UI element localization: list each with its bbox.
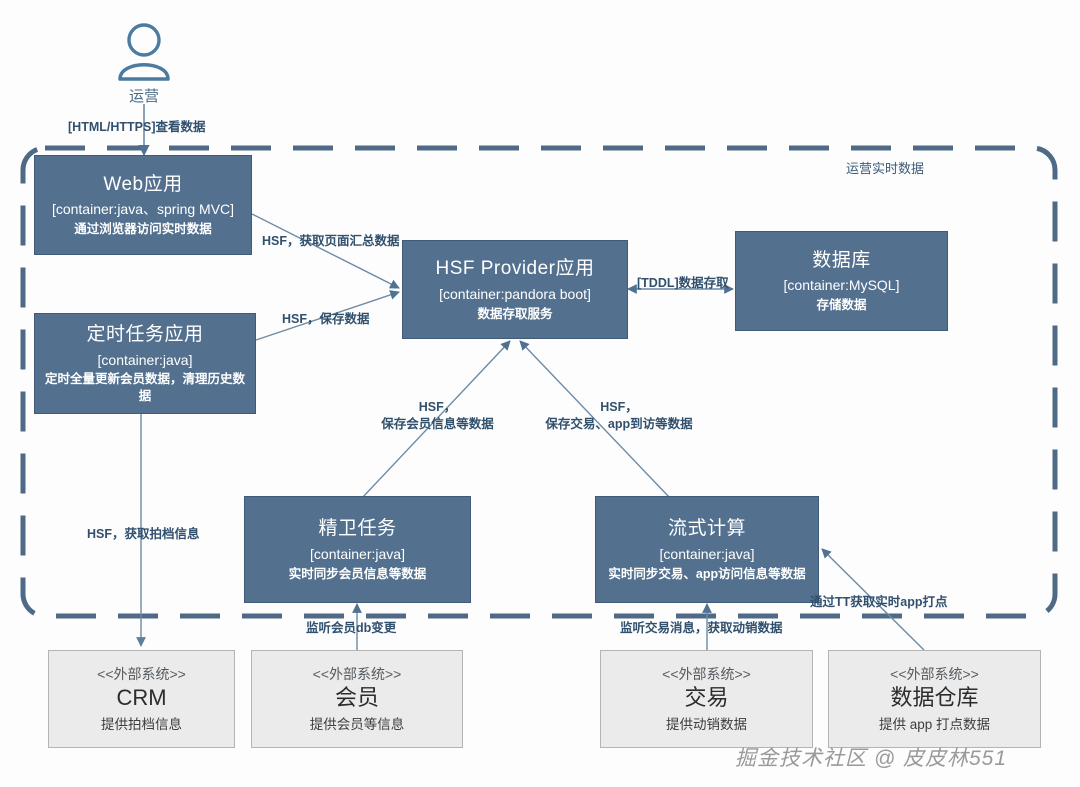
node-database[interactable]: 数据库 [container:MySQL] 存储数据 xyxy=(735,231,948,331)
node-subtitle: [container:java、spring MVC] xyxy=(52,200,234,219)
node-scheduled-task-app[interactable]: 定时任务应用 [container:java] 定时全量更新会员数据，清理历史数… xyxy=(34,313,256,414)
actor-label: 运营 xyxy=(96,85,192,106)
edge-label-timer-to-hsf: HSF，保存数据 xyxy=(282,311,370,328)
external-description: 提供动销数据 xyxy=(666,716,747,734)
node-description: 实时同步会员信息等数据 xyxy=(289,566,427,583)
external-system-crm[interactable]: <<外部系统>> CRM 提供拍档信息 xyxy=(48,650,235,748)
edge-label-line2: 保存交易、app到访等数据 xyxy=(529,416,709,433)
node-subtitle: [container:java] xyxy=(660,545,755,564)
edge-web-to-hsf xyxy=(252,214,399,288)
node-title: Web应用 xyxy=(103,172,182,198)
node-subtitle: [container:pandora boot] xyxy=(439,285,591,304)
node-jingwei-task[interactable]: 精卫任务 [container:java] 实时同步会员信息等数据 xyxy=(244,496,471,603)
boundary-label: 运营实时数据 xyxy=(846,160,924,178)
stereotype-label: <<外部系统>> xyxy=(97,665,186,683)
external-system-data-warehouse[interactable]: <<外部系统>> 数据仓库 提供 app 打点数据 xyxy=(828,650,1041,748)
edge-label-web-to-hsf: HSF，获取页面汇总数据 xyxy=(262,233,400,250)
edge-label-member-to-jingwei: 监听会员db变更 xyxy=(306,620,396,637)
node-description: 存储数据 xyxy=(816,297,866,314)
edge-label-line2: 保存会员信息等数据 xyxy=(370,416,505,433)
external-system-trade[interactable]: <<外部系统>> 交易 提供动销数据 xyxy=(600,650,813,748)
edge-label-warehouse-to-stream: 通过TT获取实时app打点 xyxy=(810,594,948,611)
stereotype-label: <<外部系统>> xyxy=(890,665,979,683)
node-web-app[interactable]: Web应用 [container:java、spring MVC] 通过浏览器访… xyxy=(34,155,252,255)
node-description: 实时同步交易、app访问信息等数据 xyxy=(608,566,805,583)
external-title: 交易 xyxy=(684,684,728,713)
node-stream-computing[interactable]: 流式计算 [container:java] 实时同步交易、app访问信息等数据 xyxy=(595,496,819,603)
external-title: 会员 xyxy=(335,684,379,713)
external-description: 提供 app 打点数据 xyxy=(879,716,990,734)
node-subtitle: [container:java] xyxy=(98,351,193,370)
node-title: 精卫任务 xyxy=(318,516,396,542)
node-description: 数据存取服务 xyxy=(477,306,552,323)
architecture-diagram: 运营 Web应用 [container:java、spring MVC] 通过浏… xyxy=(0,0,1080,787)
edge-label-stream-to-hsf: HSF， 保存交易、app到访等数据 xyxy=(529,399,709,433)
node-description: 定时全量更新会员数据，清理历史数据 xyxy=(43,371,247,405)
external-title: CRM xyxy=(116,684,166,713)
external-title: 数据仓库 xyxy=(890,684,978,713)
edge-label-line1: HSF， xyxy=(370,399,505,416)
external-description: 提供拍档信息 xyxy=(101,716,182,734)
external-system-member[interactable]: <<外部系统>> 会员 提供会员等信息 xyxy=(251,650,463,748)
edge-label-trade-to-stream: 监听交易消息，获取动销数据 xyxy=(620,620,783,637)
node-subtitle: [container:MySQL] xyxy=(784,276,900,295)
edge-label-timer-to-crm: HSF，获取拍档信息 xyxy=(87,526,200,543)
node-hsf-provider-app[interactable]: HSF Provider应用 [container:pandora boot] … xyxy=(402,240,628,339)
node-title: 数据库 xyxy=(812,248,871,274)
edge-label-actor-to-web: [HTML/HTTPS]查看数据 xyxy=(68,119,205,136)
stereotype-label: <<外部系统>> xyxy=(313,665,402,683)
node-title: 定时任务应用 xyxy=(86,322,203,348)
node-title: 流式计算 xyxy=(668,516,746,542)
external-description: 提供会员等信息 xyxy=(310,716,405,734)
edge-label-jingwei-to-hsf: HSF， 保存会员信息等数据 xyxy=(370,399,505,433)
node-title: HSF Provider应用 xyxy=(435,256,594,282)
watermark: 掘金技术社区 @ 皮皮林551 xyxy=(735,742,1007,772)
person-icon xyxy=(120,25,168,79)
node-subtitle: [container:java] xyxy=(310,545,405,564)
edge-label-hsf-to-db: [TDDL]数据存取 xyxy=(637,275,729,292)
edge-label-line1: HSF， xyxy=(529,399,709,416)
node-description: 通过浏览器访问实时数据 xyxy=(74,221,212,238)
stereotype-label: <<外部系统>> xyxy=(662,665,751,683)
